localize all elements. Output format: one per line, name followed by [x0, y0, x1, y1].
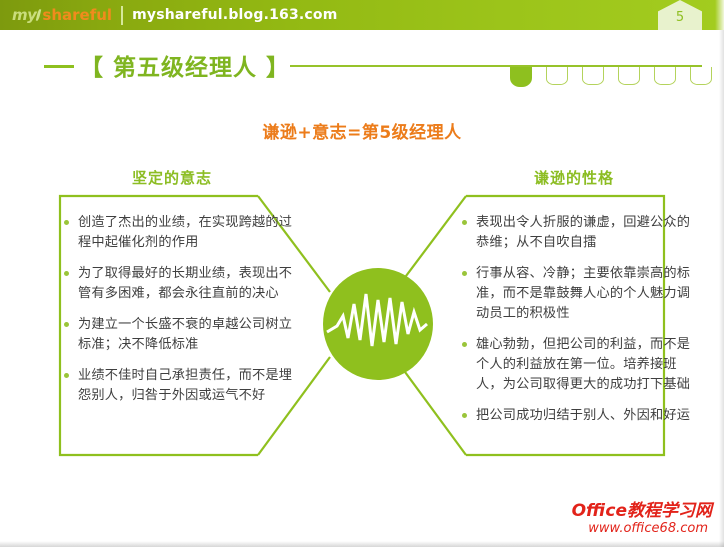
title-rule-left — [44, 65, 74, 68]
blog-url-text: myshareful.blog.163.com — [132, 7, 337, 23]
list-item: 雄心勃勃，但把公司的利益，而不是个人的利益放在第一位。培养接班人，为公司取得更大… — [462, 335, 698, 395]
list-item-text: 创造了杰出的业绩，在实现跨越的过程中起催化剂的作用 — [78, 213, 300, 253]
subtitle: 谦逊+意志=第5级经理人 — [0, 118, 724, 143]
zigzag-waveform-icon — [323, 268, 433, 380]
page-title: 【 第五级经理人 】 — [80, 48, 290, 82]
bottom-edge-shadow — [0, 541, 724, 547]
bullet-dot-icon — [64, 220, 69, 225]
logo-divider — [121, 6, 123, 25]
list-item-text: 为建立一个长盛不衰的卓越公司树立标准；决不降低标准 — [78, 315, 300, 355]
list-item-text: 表现出令人折服的谦虚，回避公众的恭维；从不自吹自擂 — [476, 213, 698, 253]
deco-cup-icon — [582, 67, 604, 85]
header-bar: my shareful myshareful.blog.163.com 5 — [0, 0, 724, 30]
deco-filled-circle-icon — [510, 67, 532, 87]
bullet-dot-icon — [64, 322, 69, 327]
list-item-text: 行事从容、冷静；主要依靠崇高的标准，而不是靠鼓舞人心的个人魅力调动员工的积极性 — [476, 264, 698, 324]
bullet-dot-icon — [462, 220, 467, 225]
bullet-dot-icon — [64, 373, 69, 378]
logo-my-text: my — [12, 6, 36, 24]
bullet-dot-icon — [462, 342, 467, 347]
title-decoration — [510, 67, 710, 89]
watermark-title: Office教程学习网 — [572, 501, 712, 521]
list-item: 表现出令人折服的谦虚，回避公众的恭维；从不自吹自擂 — [462, 213, 698, 253]
page-number-text: 5 — [658, 10, 702, 25]
list-item: 创造了杰出的业绩，在实现跨越的过程中起催化剂的作用 — [64, 213, 300, 253]
deco-cup-icon — [654, 67, 676, 85]
list-item: 为了取得最好的长期业绩，表现出不管有多困难，都会永往直前的决心 — [64, 264, 300, 304]
column-heading-left: 坚定的意志 — [132, 167, 212, 188]
logo-brand-text: shareful — [42, 6, 112, 24]
list-item-text: 业绩不佳时自己承担责任，而不是埋怨别人，归咎于外因或运气不好 — [78, 366, 300, 406]
deco-cup-icon — [546, 67, 568, 85]
slide-canvas: my shareful myshareful.blog.163.com 5 【 … — [0, 0, 724, 547]
right-edge-shadow — [719, 30, 724, 547]
bullet-list-right: 表现出令人折服的谦虚，回避公众的恭维；从不自吹自擂 行事从容、冷静；主要依靠崇高… — [462, 213, 698, 437]
watermark-url: www.office68.com — [572, 521, 708, 537]
header-edge-fade — [715, 0, 724, 30]
center-node — [323, 268, 433, 380]
watermark: Office教程学习网 www.office68.com — [572, 501, 712, 537]
page-number-badge: 5 — [658, 0, 702, 30]
list-item: 业绩不佳时自己承担责任，而不是埋怨别人，归咎于外因或运气不好 — [64, 366, 300, 406]
deco-cup-icon — [618, 67, 640, 85]
bullet-dot-icon — [64, 271, 69, 276]
list-item: 把公司成功归结于别人、外因和好运 — [462, 406, 698, 426]
bullet-dot-icon — [462, 271, 467, 276]
deco-cup-icon — [690, 67, 712, 85]
site-logo[interactable]: my shareful myshareful.blog.163.com — [12, 4, 338, 26]
title-row: 【 第五级经理人 】 — [0, 48, 724, 84]
bullet-list-left: 创造了杰出的业绩，在实现跨越的过程中起催化剂的作用 为了取得最好的长期业绩，表现… — [64, 213, 300, 417]
leaf-icon — [36, 8, 41, 22]
list-item-text: 为了取得最好的长期业绩，表现出不管有多困难，都会永往直前的决心 — [78, 264, 300, 304]
column-heading-right: 谦逊的性格 — [534, 167, 614, 188]
list-item-text: 雄心勃勃，但把公司的利益，而不是个人的利益放在第一位。培养接班人，为公司取得更大… — [476, 335, 698, 395]
list-item: 为建立一个长盛不衰的卓越公司树立标准；决不降低标准 — [64, 315, 300, 355]
list-item-text: 把公司成功归结于别人、外因和好运 — [476, 406, 690, 426]
list-item: 行事从容、冷静；主要依靠崇高的标准，而不是靠鼓舞人心的个人魅力调动员工的积极性 — [462, 264, 698, 324]
bullet-dot-icon — [462, 413, 467, 418]
